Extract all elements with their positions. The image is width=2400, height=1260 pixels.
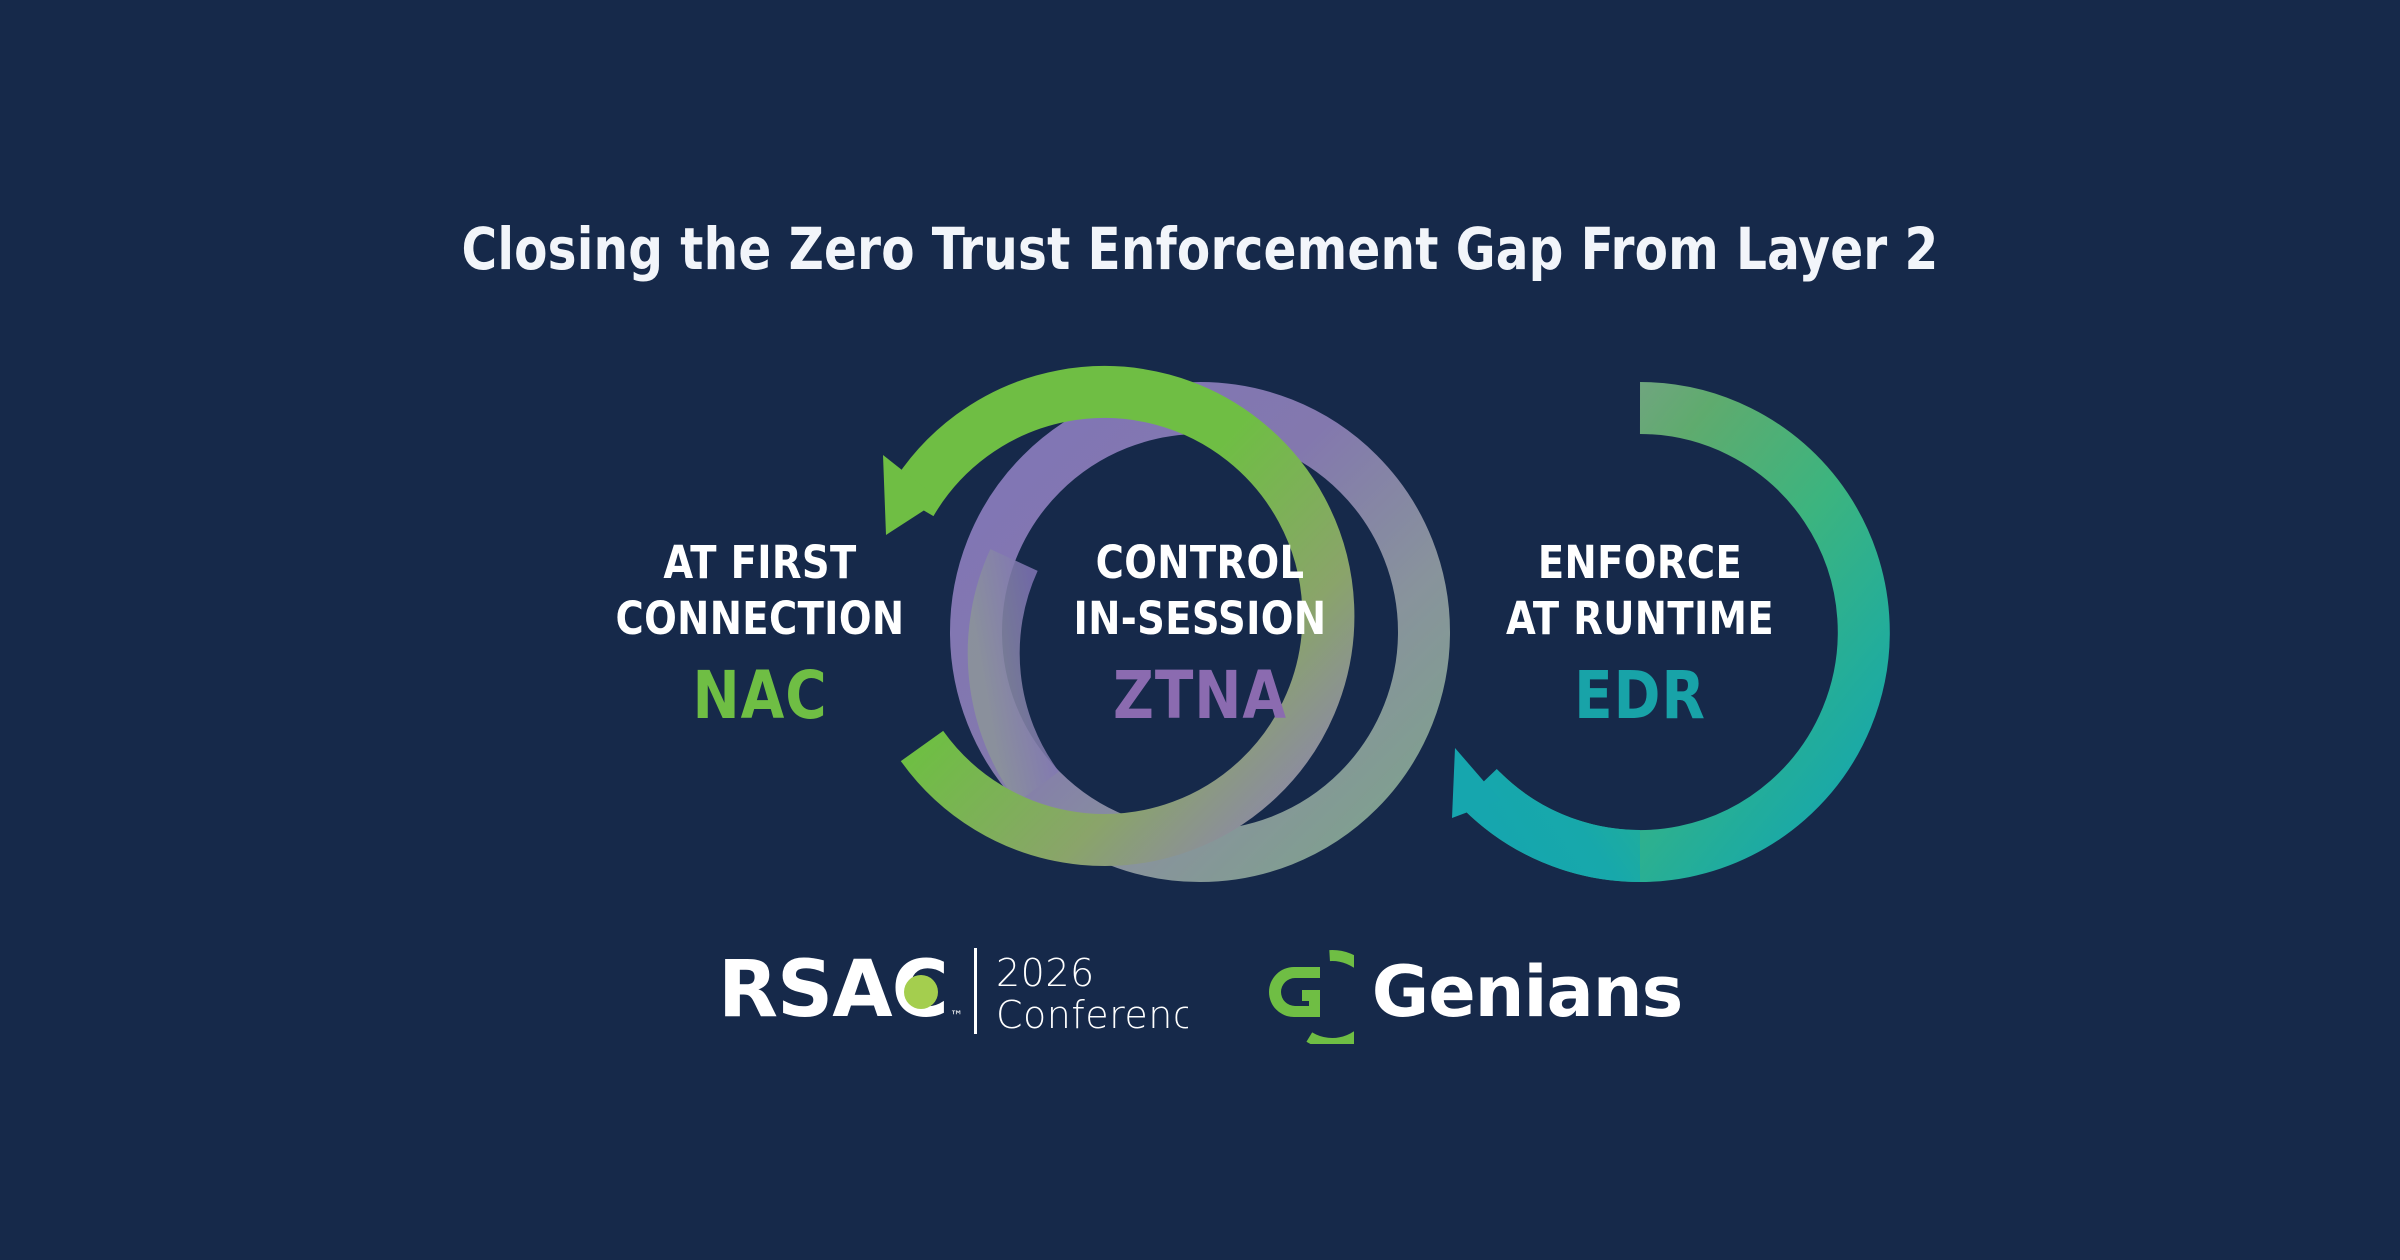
genians-logo: Genians	[1250, 940, 1683, 1044]
ring-ztna	[976, 408, 1424, 856]
footer-logos: RSAC ™ 2026 Conference Genians	[0, 940, 2400, 1044]
rsac-divider	[974, 948, 977, 1034]
genians-wordmark: Genians	[1372, 954, 1683, 1030]
rsac-green-dot-icon	[904, 975, 938, 1009]
slide-canvas: Closing the Zero Trust Enforcement Gap F…	[0, 0, 2400, 1260]
zero-trust-loop-diagram	[0, 0, 2400, 1260]
rsac-logo-svg: RSAC ™ 2026 Conference	[718, 940, 1188, 1044]
rsac-conference-text: Conference	[996, 993, 1188, 1037]
rsac-trademark-text: ™	[950, 1009, 963, 1024]
rsac-year-text: 2026	[996, 951, 1095, 995]
ring-nac	[883, 392, 1328, 840]
ring-edr	[1452, 408, 1864, 856]
rsac-conference-logo: RSAC ™ 2026 Conference	[718, 940, 1188, 1044]
genians-mark-icon	[1250, 940, 1354, 1044]
